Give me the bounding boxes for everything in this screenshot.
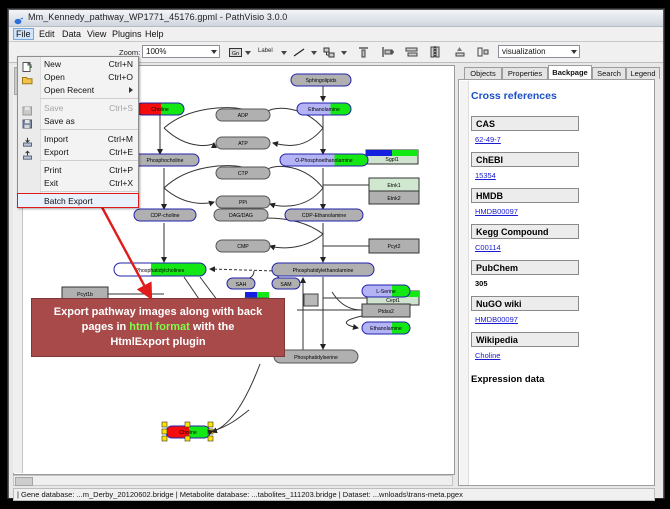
tab-backpage[interactable]: Backpage [548,65,592,79]
node-o-phosphoethanolamine-label: O-Phosphoethanolamine [295,158,353,164]
annotation-line2-b: with the [190,321,235,333]
line-tool-dropdown-icon[interactable] [311,51,317,55]
zoom-combo[interactable]: 100% [142,45,220,58]
menu-separator [40,160,138,161]
interaction-icon[interactable] [322,45,336,59]
node-phosphocholine-label: Phosphocholine [147,158,184,164]
node-choline-selected: Choline [162,422,213,441]
menu-item-save-as-label: Save as [44,116,75,126]
interaction-tool-dropdown-icon[interactable] [341,51,347,55]
chevron-down-icon [571,50,577,54]
node-atp-label: ATP [238,141,248,147]
node-cdp-choline-label: CDP-choline [150,213,179,219]
menu-item-new[interactable]: New Ctrl+N [18,57,138,70]
node-phosphatidylethanolamine-label: Phosphatidylethanolamine [293,268,354,274]
node-ppi-label: PPi [239,200,247,206]
node-l-serine-label: L-Serine [376,289,396,295]
menu-item-open-accel: Ctrl+O [108,72,133,82]
menu-separator [40,129,138,130]
label-tool-label[interactable]: Label [258,48,273,54]
menu-item-import-label: Import [44,134,68,144]
section-kegg-compound: Kegg Compound [471,224,579,239]
value-hmdb[interactable]: HMDB00097 [475,207,650,216]
visualization-combo[interactable]: visualization [498,45,580,58]
gene-pcyt2-label: Pcyt2 [388,244,401,250]
gene-sgpl1-label: Sgpl1 [385,157,398,163]
save-as-icon [22,116,33,126]
gene-ptdss2-label: Ptdss2 [378,309,394,315]
value-wikipedia[interactable]: Choline [475,351,650,360]
menu-item-export-label: Export [44,147,69,157]
section-hmdb: HMDB [471,188,579,203]
menu-item-open[interactable]: Open Ctrl+O [18,70,138,83]
menu-item-batch-export[interactable]: Batch Export [18,194,138,207]
node-ethanolamine-label: Ethanolamine [308,107,340,113]
menu-item-exit[interactable]: Exit Ctrl+X [18,176,138,189]
menu-plugins[interactable]: Plugins [109,28,145,40]
value-pubchem: 305 [475,279,650,288]
menu-file[interactable]: File [13,28,34,40]
pathvisio-window: Mm_Kennedy_pathway_WP1771_45176.gpml - P… [8,9,664,498]
scroll-thumb[interactable] [15,477,33,486]
tab-search[interactable]: Search [592,67,626,79]
menu-item-exit-label: Exit [44,178,58,188]
gene-cept1-label: Cept1 [386,298,400,304]
visualization-value: visualization [502,47,546,56]
node-dag-label: DAG/DAG [229,213,253,219]
tab-legend[interactable]: Legend [626,67,660,79]
menu-item-save-accel: Ctrl+S [109,103,133,113]
title-bar: Mm_Kennedy_pathway_WP1771_45176.gpml - P… [9,10,663,27]
window-title: Mm_Kennedy_pathway_WP1771_45176.gpml - P… [28,12,287,22]
menu-separator [40,98,138,99]
chevron-down-icon [211,50,217,54]
menu-item-open-recent[interactable]: Open Recent [18,83,138,96]
zoom-value: 100% [146,47,166,56]
menu-view[interactable]: View [84,28,109,40]
menu-item-batch-export-label: Batch Export [44,196,93,206]
node-cmp-label: CMP [237,244,249,250]
status-bar: | Gene database: ...m_Derby_20120602.bri… [13,488,655,501]
node-ctp-label: CTP [238,171,249,177]
submenu-arrow-icon [129,87,133,93]
node-phosphatidylserine-label: Phosphatidylserine [294,355,338,361]
align-left-icon[interactable] [380,45,394,59]
section-pubchem: PubChem [471,260,579,275]
side-panel-tabs: Objects Properties Backpage Search Legen… [458,65,655,79]
annotation-callout: Export pathway images along with back pa… [31,298,285,357]
canvas-horizontal-scrollbar[interactable] [13,475,453,486]
menu-bar: File Edit Data View Plugins Help [9,27,663,42]
section-cas: CAS [471,116,579,131]
menu-item-print[interactable]: Print Ctrl+P [18,163,138,176]
tab-objects[interactable]: Objects [464,67,502,79]
line-icon[interactable] [292,45,306,59]
save-disk-icon [22,103,33,113]
folder-open-icon [22,72,33,82]
section-nugo-wiki: NuGO wiki [471,296,579,311]
annotation-highlight: html format [129,321,190,333]
gene-etnk2-label: Etnk2 [387,196,400,202]
gene-etnk1-label: Etnk1 [387,183,400,189]
node-adp-label: ADP [238,113,249,119]
menu-item-new-accel: Ctrl+N [109,59,133,69]
value-chebi[interactable]: 15354 [475,171,650,180]
menu-item-print-label: Print [44,165,61,175]
align-columns-icon[interactable] [428,45,442,59]
menu-item-save-label: Save [44,103,63,113]
menu-item-open-label: Open [44,72,65,82]
section-wikipedia: Wikipedia [471,332,579,347]
node-choline-label: Choline [151,107,169,113]
menu-item-exit-accel: Ctrl+X [109,178,133,188]
section-chebi: ChEBI [471,152,579,167]
screenshot-root: Mm_Kennedy_pathway_WP1771_45176.gpml - P… [0,0,670,509]
value-kegg-compound[interactable]: C00114 [475,243,650,252]
align-top-icon[interactable] [356,45,370,59]
node-ethanolamine-bottom-label: Ethanolamine [370,326,402,332]
gene-tool-dropdown-icon[interactable] [245,51,251,55]
menu-help[interactable]: Help [142,28,167,40]
import-icon [22,134,33,144]
backpage-scrollbar[interactable] [460,81,469,486]
menu-item-save-as[interactable]: Save as [18,114,138,127]
expression-data-heading: Expression data [471,374,650,385]
node-phosphatidylcholines-label: Phosphatidylcholines [136,268,185,274]
annotation-line3: HtmlExport plugin [110,336,205,348]
menu-edit[interactable]: Edit [36,28,58,40]
menu-item-open-recent-label: Open Recent [44,85,94,95]
node-sphingolipids-label: Sphingolipids [306,78,337,84]
node-sah-label: SAH [236,282,247,288]
menu-item-new-label: New [44,59,61,69]
menu-item-export[interactable]: Export Ctrl+E [18,145,138,158]
cross-references-heading: Cross references [471,90,650,102]
align-rows-icon[interactable] [404,45,418,59]
pathvisio-icon [14,13,24,23]
menu-item-print-accel: Ctrl+P [109,165,133,175]
value-cas[interactable]: 62-49-7 [475,135,650,144]
annotation-line1: Export pathway images along with back [54,306,262,318]
svg-text:Gn: Gn [231,51,238,57]
menu-item-import[interactable]: Import Ctrl+M [18,132,138,145]
menu-item-import-accel: Ctrl+M [108,134,133,144]
tab-properties[interactable]: Properties [502,67,548,79]
group-icon[interactable] [476,45,490,59]
menu-item-export-accel: Ctrl+E [109,147,133,157]
gene-box-icon[interactable]: Gn [228,45,242,59]
menu-separator [40,191,138,192]
annotation-line2-a: pages in [82,321,130,333]
node-sam-label: SAM [280,282,291,288]
annotation-text: Export pathway images along with back pa… [48,305,268,350]
menu-item-save: Save Ctrl+S [18,101,138,114]
menu-data[interactable]: Data [59,28,84,40]
backpage-panel: Cross references CAS 62-49-7 ChEBI 15354… [458,79,655,486]
file-menu-dropdown[interactable]: New Ctrl+N Open Ctrl+O Open Recent Save [17,56,139,208]
value-nugo-wiki[interactable]: HMDB00097 [475,315,650,324]
node-cdp-ethanolamine-label: CDP-Ethanolamine [302,213,347,219]
export-icon [22,147,33,157]
label-tool-dropdown-icon[interactable] [281,51,287,55]
new-document-icon [22,59,33,69]
stack-center-icon[interactable] [452,45,466,59]
node-choline-selected-label: Choline [179,430,197,436]
side-panel: Objects Properties Backpage Search Legen… [458,65,655,486]
